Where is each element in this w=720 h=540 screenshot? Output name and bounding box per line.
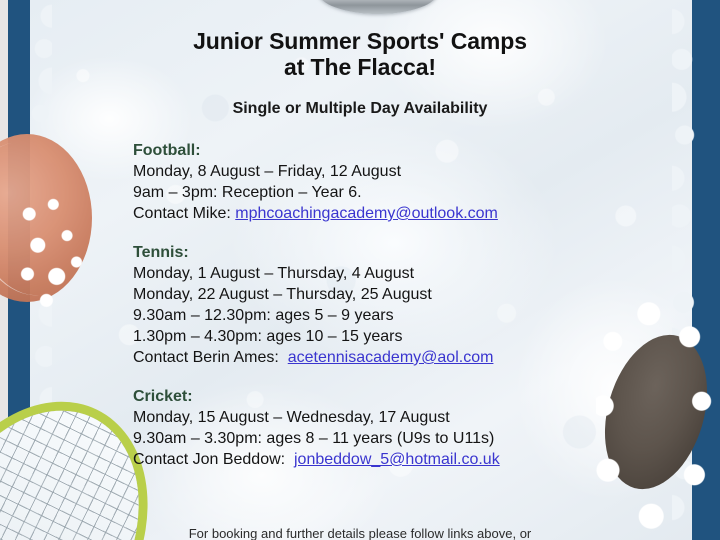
section-line: Monday, 1 August – Thursday, 4 August	[133, 263, 603, 284]
section-contact-cricket: Contact Jon Beddow: jonbeddow_5@hotmail.…	[133, 449, 603, 470]
contact-label: Contact Jon Beddow:	[133, 451, 285, 468]
section-line: Monday, 22 August – Thursday, 25 August	[133, 284, 603, 305]
section-line: Monday, 15 August – Wednesday, 17 August	[133, 407, 603, 428]
email-link-cricket[interactable]: jonbeddow_5@hotmail.co.uk	[294, 451, 500, 468]
section-heading-cricket: Cricket:	[133, 386, 603, 407]
page-title: Junior Summer Sports' Camps at The Flacc…	[60, 28, 660, 80]
page-subtitle: Single or Multiple Day Availability	[60, 100, 660, 118]
page-title-line-2: at The Flacca!	[60, 54, 660, 80]
section-heading-football: Football:	[133, 140, 603, 161]
section-contact-tennis: Contact Berin Ames: acetennisacademy@aol…	[133, 347, 603, 368]
section-line: 9am – 3pm: Reception – Year 6.	[133, 182, 603, 203]
contact-label: Contact Berin Ames:	[133, 349, 279, 366]
camp-sections-list: Football: Monday, 8 August – Friday, 12 …	[133, 140, 603, 470]
poster-content: Junior Summer Sports' Camps at The Flacc…	[0, 0, 720, 540]
section-line: 9.30am – 3.30pm: ages 8 – 11 years (U9s …	[133, 428, 603, 449]
section-cricket: Cricket: Monday, 15 August – Wednesday, …	[133, 386, 603, 470]
contact-label: Contact Mike:	[133, 205, 231, 222]
section-line: 9.30am – 12.30pm: ages 5 – 9 years	[133, 305, 603, 326]
section-tennis: Tennis: Monday, 1 August – Thursday, 4 A…	[133, 242, 603, 368]
poster-canvas: Junior Summer Sports' Camps at The Flacc…	[0, 0, 720, 540]
email-link-football[interactable]: mphcoachingacademy@outlook.com	[235, 205, 498, 222]
email-link-tennis[interactable]: acetennisacademy@aol.com	[288, 349, 494, 366]
section-line: 1.30pm – 4.30pm: ages 10 – 15 years	[133, 326, 603, 347]
section-football: Football: Monday, 8 August – Friday, 12 …	[133, 140, 603, 224]
section-contact-football: Contact Mike: mphcoachingacademy@outlook…	[133, 203, 603, 224]
footer-booking-note: For booking and further details please f…	[60, 526, 660, 540]
section-heading-tennis: Tennis:	[133, 242, 603, 263]
section-line: Monday, 8 August – Friday, 12 August	[133, 161, 603, 182]
page-title-line-1: Junior Summer Sports' Camps	[60, 28, 660, 54]
